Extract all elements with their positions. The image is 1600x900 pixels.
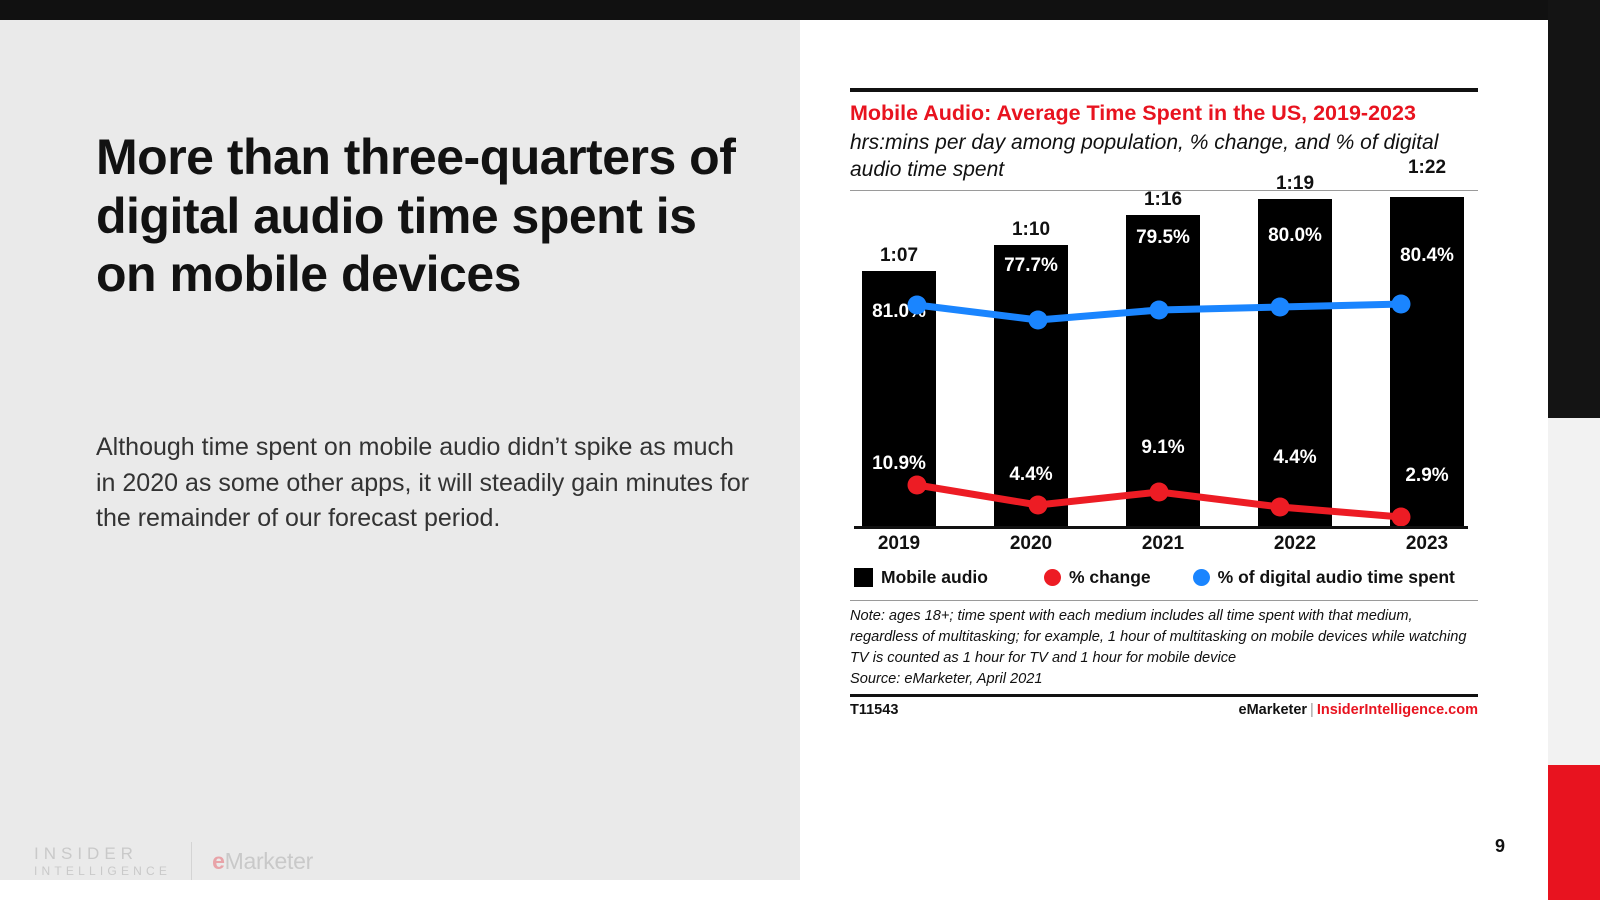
blue-point-2020[interactable] (1029, 311, 1048, 330)
red-point-2021[interactable] (1150, 483, 1169, 502)
bar-value-label: 1:22 (1367, 157, 1487, 179)
accent-band-gray (1548, 418, 1600, 765)
accent-band-black (1548, 0, 1600, 418)
x-axis-labels: 2019 2020 2021 2022 2023 (862, 533, 1464, 555)
chart-card: Mobile Audio: Average Time Spent in the … (850, 88, 1478, 800)
blue-point-2023[interactable] (1392, 295, 1411, 314)
body-paragraph: Although time spent on mobile audio didn… (96, 430, 756, 537)
chart-legend: Mobile audio % change % of digital audio… (850, 567, 1478, 588)
chart-plot-area: 1:07 81.0% 10.9% 1:10 77.7% 4.4% 1:16 79… (850, 197, 1478, 557)
insider-intelligence-logo: INSIDER INTELLIGENCE (34, 843, 171, 879)
footer-brand-separator: | (1307, 702, 1317, 718)
circle-marker-icon (1044, 569, 1061, 586)
footer-site-link[interactable]: InsiderIntelligence.com (1317, 702, 1478, 718)
brand-logo: INSIDER INTELLIGENCE eMarketer (34, 842, 313, 880)
blue-point-2022[interactable] (1271, 298, 1290, 317)
chart-source: Source: eMarketer, April 2021 (850, 669, 1478, 690)
red-point-2020[interactable] (1029, 496, 1048, 515)
legend-item-pct-change[interactable]: % change (1044, 567, 1151, 588)
legend-label: Mobile audio (881, 567, 988, 588)
logo-divider (191, 842, 192, 880)
insider-logo-line1: INSIDER (34, 843, 171, 864)
x-tick-2022: 2022 (1258, 533, 1332, 555)
red-point-2023[interactable] (1392, 508, 1411, 527)
legend-label: % change (1069, 567, 1151, 588)
circle-marker-icon (1193, 569, 1210, 586)
left-content-panel: More than three-quarters of digital audi… (0, 20, 800, 880)
x-tick-2021: 2021 (1126, 533, 1200, 555)
insider-logo-line2: INTELLIGENCE (34, 864, 171, 879)
x-axis-line (854, 526, 1468, 529)
chart-note: Note: ages 18+; time spent with each med… (850, 601, 1478, 668)
x-tick-2023: 2023 (1390, 533, 1464, 555)
legend-item-pct-digital-audio[interactable]: % of digital audio time spent (1193, 567, 1455, 588)
square-marker-icon (854, 568, 873, 587)
chart-footer: T11543 eMarketer|InsiderIntelligence.com (850, 697, 1478, 718)
page-number: 9 (1495, 836, 1505, 857)
red-point-2022[interactable] (1271, 498, 1290, 517)
footer-brand-name: eMarketer (1239, 702, 1308, 718)
bar-value-label: 1:19 (1235, 173, 1355, 195)
emarketer-logo: eMarketer (212, 848, 313, 875)
page-title: More than three-quarters of digital audi… (96, 128, 756, 304)
x-tick-2019: 2019 (862, 533, 936, 555)
chart-title: Mobile Audio: Average Time Spent in the … (850, 92, 1478, 127)
chart-code: T11543 (850, 702, 898, 718)
chart-footer-brand: eMarketer|InsiderIntelligence.com (1239, 702, 1478, 718)
blue-point-2019[interactable] (908, 296, 927, 315)
legend-label: % of digital audio time spent (1218, 567, 1455, 588)
line-series-overlay (850, 197, 1478, 557)
red-point-2019[interactable] (908, 476, 927, 495)
top-black-bar (0, 0, 1548, 20)
x-tick-2020: 2020 (994, 533, 1068, 555)
accent-band-red (1548, 765, 1600, 900)
blue-point-2021[interactable] (1150, 301, 1169, 320)
emarketer-logo-rest: Marketer (225, 848, 313, 874)
chart-note-block: Note: ages 18+; time spent with each med… (850, 600, 1478, 689)
emarketer-logo-e: e (212, 848, 225, 874)
legend-item-mobile-audio[interactable]: Mobile audio (854, 567, 988, 588)
